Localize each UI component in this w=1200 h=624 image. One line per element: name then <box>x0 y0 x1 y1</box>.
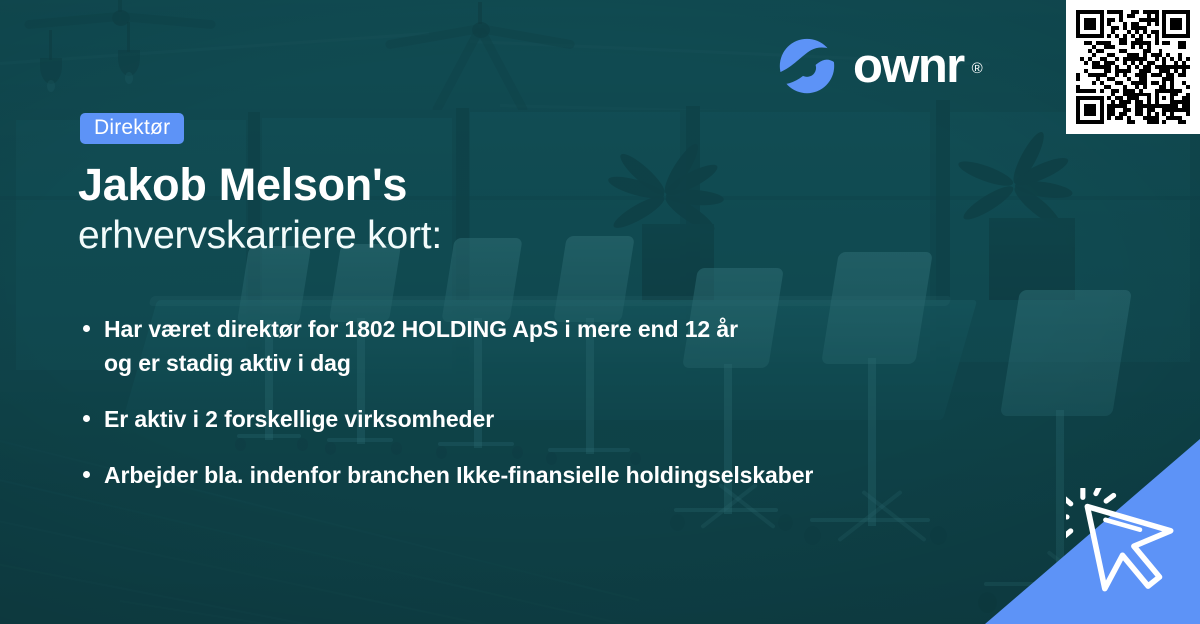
ownr-wordmark-text: ownr <box>853 39 964 93</box>
list-item: Arbejder bla. indenfor branchen Ikke-fin… <box>80 458 980 492</box>
ownr-logo[interactable]: ownr® <box>778 37 964 95</box>
card-content: Direktør Jakob Melson's erhvervskarriere… <box>0 0 1200 624</box>
qr-code-icon <box>1076 10 1190 124</box>
list-item-line-1: Har været direktør for 1802 HOLDING ApS … <box>104 316 738 342</box>
registered-trademark-icon: ® <box>972 40 983 98</box>
ownr-wordmark: ownr® <box>853 37 964 95</box>
bullet-dot-icon <box>83 415 90 422</box>
list-item: Er aktiv i 2 forskellige virksomheder <box>80 402 980 436</box>
click-cursor-icon <box>1066 488 1178 598</box>
career-facts-list: Har været direktør for 1802 HOLDING ApS … <box>80 312 980 514</box>
list-item-line-1: Er aktiv i 2 forskellige virksomheder <box>104 406 494 432</box>
bullet-dot-icon <box>83 471 90 478</box>
page-title-line-2: erhvervskarriere kort: <box>78 210 442 262</box>
ownr-swirl-logo-icon <box>778 37 836 95</box>
list-item: Har været direktør for 1802 HOLDING ApS … <box>80 312 980 380</box>
list-item-line-2: og er stadig aktiv i dag <box>104 346 980 380</box>
bullet-dot-icon <box>83 325 90 332</box>
list-item-line-1: Arbejder bla. indenfor branchen Ikke-fin… <box>104 462 813 488</box>
business-career-card: Direktør Jakob Melson's erhvervskarriere… <box>0 0 1200 624</box>
role-badge: Direktør <box>80 113 184 144</box>
qr-code-panel[interactable] <box>1066 0 1200 134</box>
page-title-line-1: Jakob Melson's <box>78 156 407 214</box>
